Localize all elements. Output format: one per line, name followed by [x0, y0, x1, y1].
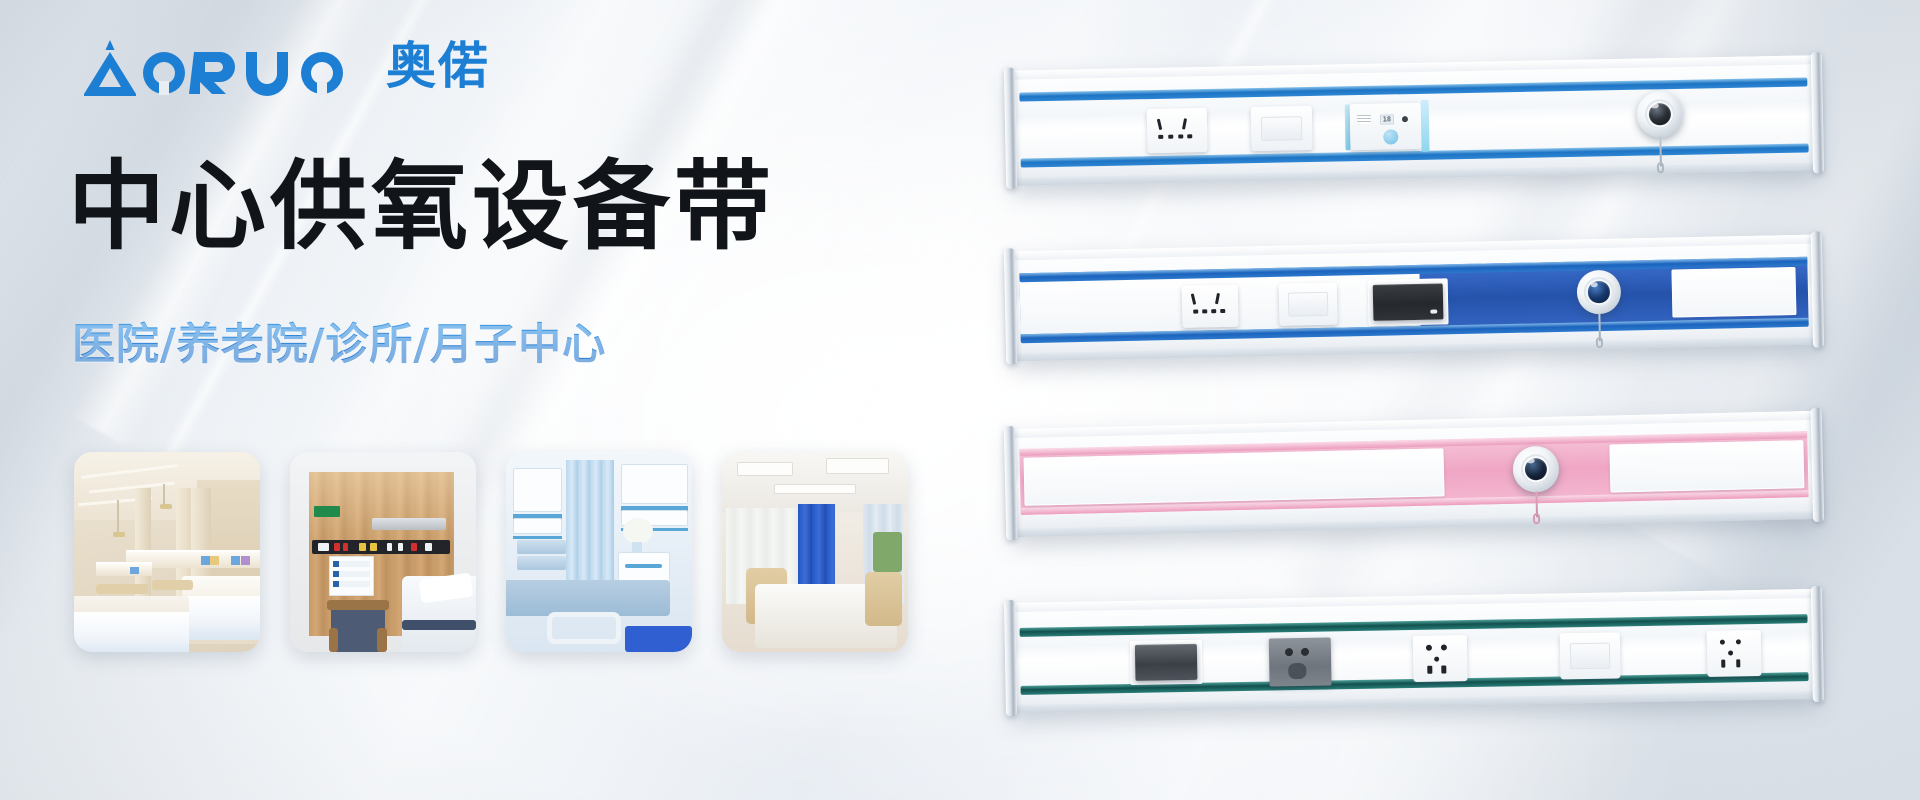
product-gallery: 18 蓝色双条纹设备带	[1000, 0, 1920, 800]
dark-display-module[interactable]	[1373, 283, 1444, 320]
rail-end-cap-right	[1811, 231, 1824, 347]
product-pink-bed-head-unit[interactable]: 粉色设备带	[1009, 411, 1819, 537]
thumbnail-warm-single-ward[interactable]	[722, 452, 908, 652]
rail-end-cap-right	[1811, 586, 1824, 702]
hero-left-column: 奥偌 AORUO 中心供氧设备带 医院/养老院/诊所/月子中心	[0, 0, 1000, 800]
rail-end-cap-right	[1811, 408, 1825, 522]
light-switch-module[interactable]	[1251, 106, 1313, 151]
power-socket-module[interactable]	[1147, 108, 1208, 153]
product-royal-blue-bed-head-unit[interactable]: 宝蓝色设备带	[1009, 235, 1819, 362]
blank-panel-module-right[interactable]	[1609, 440, 1804, 492]
gray-gas-outlet-module[interactable]	[1269, 637, 1332, 686]
product-blue-stripe-bed-head-unit[interactable]: 18 蓝色双条纹设备带	[1009, 55, 1819, 185]
outlet-hose-hook	[1533, 513, 1540, 524]
rail-end-cap-left	[1004, 600, 1017, 716]
outlet-hose-hook	[1657, 162, 1664, 173]
power-socket-module-2[interactable]	[1707, 630, 1762, 677]
power-socket-module-1[interactable]	[1413, 635, 1468, 682]
application-scenario-thumbnails	[74, 452, 908, 652]
light-switch-module[interactable]	[1279, 283, 1338, 326]
outlet-hose-hook	[1596, 337, 1603, 348]
hero-headline: 中心供氧设备带	[68, 156, 775, 259]
aoruo-logo-mark-icon	[74, 36, 372, 96]
brand-logo[interactable]: 奥偌 AORUO	[74, 36, 490, 96]
power-socket-module[interactable]	[1182, 285, 1239, 328]
brand-chinese-name: 奥偌	[386, 41, 490, 91]
rail-end-cap-right	[1811, 52, 1824, 173]
thumbnail-wood-panel-patient-room[interactable]	[290, 452, 476, 652]
thumbnail-blue-curtain-ward[interactable]	[506, 452, 692, 652]
thumbnail-beige-multi-bed-ward[interactable]	[74, 452, 260, 652]
nurse-call-panel-module[interactable]: 18	[1350, 103, 1422, 150]
blank-panel-module-left[interactable]	[1024, 448, 1445, 506]
blank-panel-module[interactable]	[1671, 267, 1796, 318]
rail-end-cap-left	[1004, 68, 1017, 189]
light-switch-module[interactable]	[1560, 632, 1621, 679]
product-teal-stripe-bed-head-unit[interactable]: 墨绿色设备带	[1009, 589, 1819, 713]
dark-switch-module[interactable]	[1135, 644, 1198, 681]
hero-subtitle: 医院/养老院/诊所/月子中心	[72, 310, 606, 372]
nurse-call-accent-tab-right	[1421, 100, 1430, 152]
